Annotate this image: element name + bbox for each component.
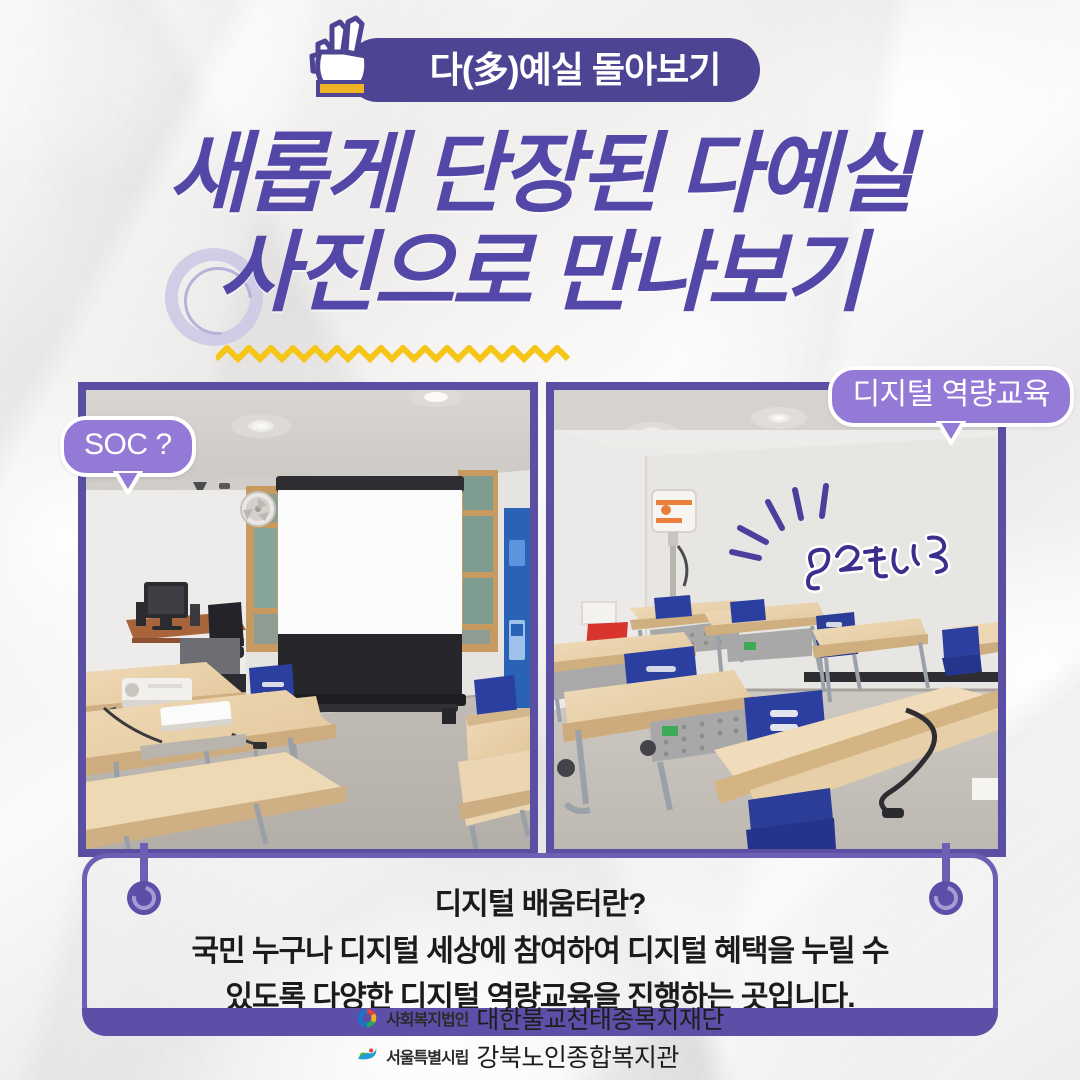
pin-knob [127, 881, 161, 915]
badge-label: 다(多)예실 돌아보기 [430, 52, 721, 88]
speech-bubble-digital-label: 디지털 역량교육 [852, 378, 1050, 411]
footer-row-center: 서울특별시립 강북노인종합복지관 [356, 1038, 724, 1074]
footer-big-label-2: 강북노인종합복지관 [476, 1038, 679, 1074]
footer-big-label-1: 대한불교천태종복지재단 [476, 1000, 724, 1036]
circle-ring-logo-icon [356, 1007, 378, 1029]
footer: 사회복지법인 대한불교천태종복지재단 서울특별시립 강북노인종합복지관 [0, 1000, 1080, 1074]
section-badge: 다(多)예실 돌아보기 [346, 38, 761, 102]
speech-bubble-soc-label: SOC ? [84, 428, 172, 461]
caption-line-1: 국민 누구나 디지털 세상에 참여하여 디지털 혜택을 누릴 수 [87, 929, 993, 976]
footer-small-label-2: 서울특별시립 [386, 1044, 468, 1068]
headline-line-1: 새롭게 단장된 다예실 [0, 124, 1080, 223]
headline-block: 새롭게 단장된 다예실 사진으로 만나보기 [0, 124, 1080, 323]
peace-hand-icon [304, 12, 382, 104]
bubble-tail-icon [936, 421, 966, 445]
bubble-tail-icon [113, 471, 143, 495]
zigzag-underline-icon [216, 345, 572, 363]
person-swoosh-logo-icon [356, 1045, 378, 1067]
footer-small-label-1: 사회복지법인 [386, 1006, 468, 1030]
caption-title: 디지털 배움터란? [87, 882, 993, 929]
footer-row-foundation: 사회복지법인 대한불교천태종복지재단 [356, 1000, 724, 1036]
pin-knob [929, 881, 963, 915]
speech-bubble-digital: 디지털 역량교육 [828, 366, 1074, 427]
badge-row: 다(多)예실 돌아보기 [0, 38, 1080, 102]
photo-classroom-with-desks [546, 382, 1006, 857]
speech-bubble-soc: SOC ? [60, 416, 196, 477]
headline-line-2: 사진으로 만나보기 [0, 223, 1080, 322]
